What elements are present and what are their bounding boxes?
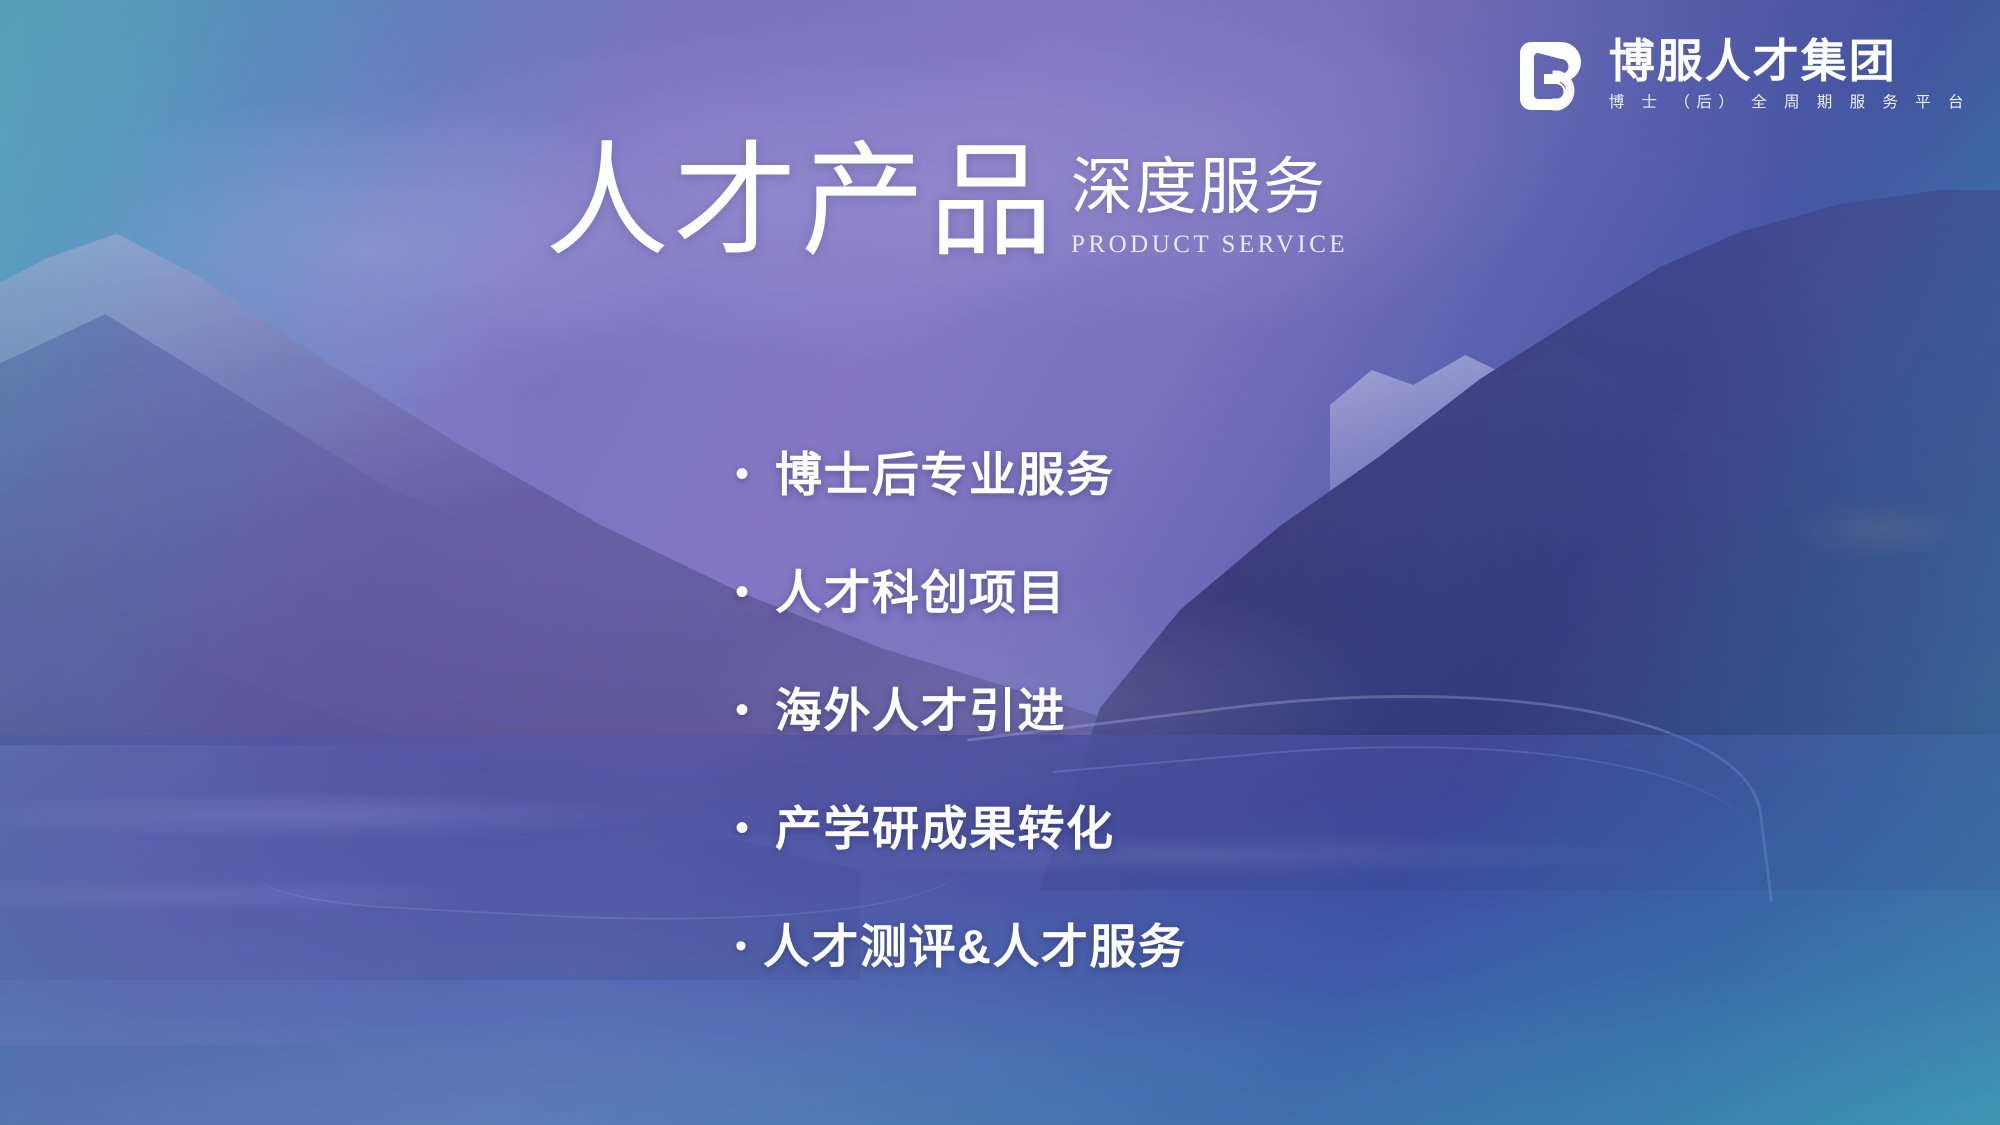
list-item-label: 人才科创项目 — [775, 569, 1066, 616]
list-item-label: 海外人才引进 — [775, 687, 1066, 734]
bullet-dot-icon: • — [735, 454, 775, 494]
list-item: • 人才科创项目 — [735, 533, 1186, 651]
list-item: • 博士后专业服务 — [735, 415, 1186, 533]
list-item: • 海外人才引进 — [735, 651, 1186, 769]
bullet-dot-icon: • — [735, 929, 763, 963]
list-item-label: 产学研成果转化 — [775, 805, 1115, 852]
list-item: • 人才测评&人才服务 — [735, 887, 1186, 1005]
list-item-label: 人才测评&人才服务 — [763, 923, 1186, 970]
headline-sub-text: 深度服务 — [1071, 157, 1348, 219]
headline-main-text: 人才产品 — [545, 140, 1057, 264]
bullet-dot-icon: • — [735, 808, 775, 848]
service-list: • 博士后专业服务 • 人才科创项目 • 海外人才引进 • 产学研成果转化 • … — [735, 415, 1186, 1005]
brand-logo: 博服人才集团 博 士 （后） 全 周 期 服 务 平 台 — [1517, 38, 1970, 112]
list-item: • 产学研成果转化 — [735, 769, 1186, 887]
brand-name: 博服人才集团 — [1609, 38, 1970, 84]
bullet-dot-icon: • — [735, 572, 775, 612]
headline-english-text: PRODUCT SERVICE — [1071, 232, 1348, 257]
headline-secondary-block: 深度服务 PRODUCT SERVICE — [1071, 157, 1348, 257]
slide-headline: 人才产品 深度服务 PRODUCT SERVICE — [545, 140, 1348, 264]
brand-tagline: 博 士 （后） 全 周 期 服 务 平 台 — [1609, 95, 1970, 111]
presentation-slide: 博服人才集团 博 士 （后） 全 周 期 服 务 平 台 人才产品 深度服务 P… — [0, 0, 2000, 1125]
bullet-dot-icon: • — [735, 690, 775, 730]
list-item-label: 博士后专业服务 — [775, 451, 1115, 498]
brand-logo-text: 博服人才集团 博 士 （后） 全 周 期 服 务 平 台 — [1609, 38, 1970, 111]
bf-monogram-icon — [1517, 40, 1591, 112]
